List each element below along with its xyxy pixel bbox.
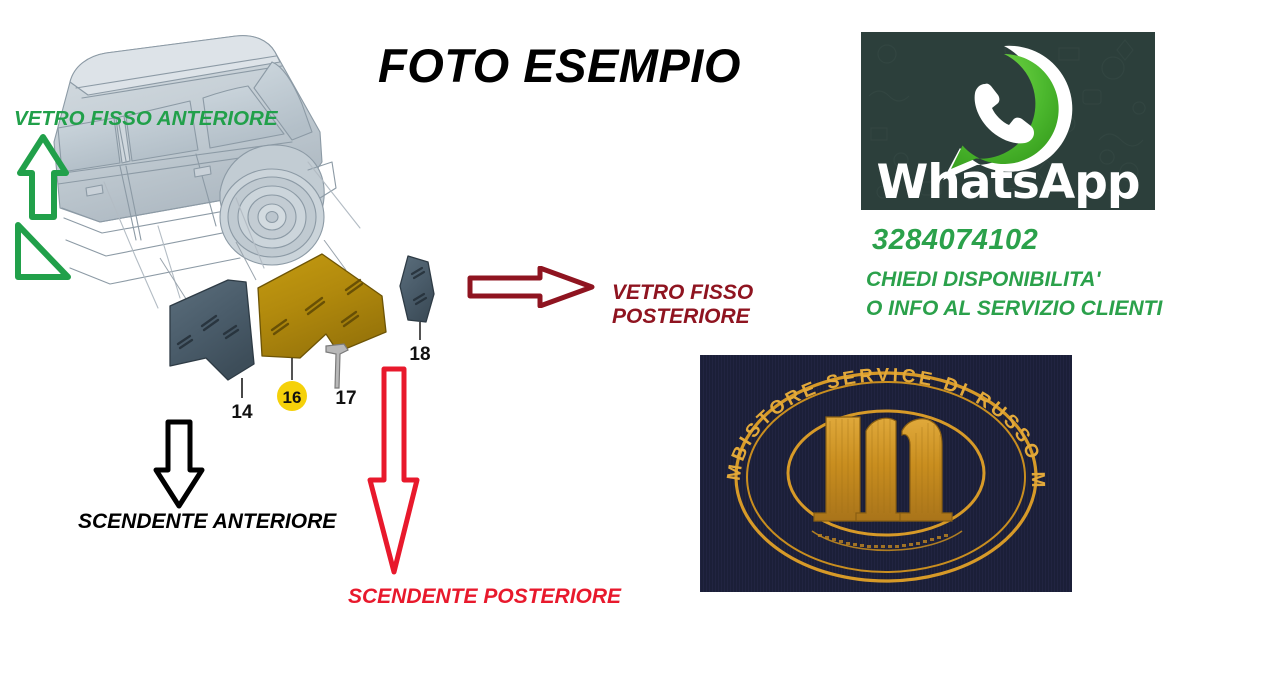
whatsapp-wordmark: WhatsApp — [861, 155, 1155, 210]
label-scendente-posteriore: SCENDENTE POSTERIORE — [348, 585, 621, 609]
poster-canvas: 14 16 17 — [0, 0, 1264, 678]
contact-customer-service-line: O INFO AL SERVIZIO CLIENTI — [866, 297, 1162, 321]
label-scendente-anteriore: SCENDENTE ANTERIORE — [78, 510, 336, 534]
whatsapp-banner: WhatsApp — [861, 32, 1155, 210]
label-vetro-fisso-posteriore-line2: POSTERIORE — [612, 305, 753, 329]
shop-logo-photo: MRICAMBISTORE SERVICE DI RUSSO MARCO — [700, 355, 1072, 592]
down-arrow-black-icon — [150, 418, 208, 510]
part-18-shape — [400, 256, 434, 322]
shop-logo-monogram — [814, 417, 952, 521]
part-16-shape — [258, 254, 386, 358]
label-vetro-fisso-anteriore: VETRO FISSO ANTERIORE — [14, 108, 278, 131]
exploded-glass-parts: 14 16 17 — [150, 240, 480, 440]
right-arrow-dark-red-icon — [466, 266, 596, 308]
down-arrow-red-icon — [364, 366, 422, 578]
page-title: FOTO ESEMPIO — [378, 38, 741, 93]
part-number-14: 14 — [231, 402, 253, 423]
svg-text:16: 16 — [283, 388, 302, 407]
phone-number[interactable]: 3284074102 — [872, 224, 1038, 257]
up-arrow-green-icon — [10, 133, 76, 283]
contact-availability-line: CHIEDI DISPONIBILITA' — [866, 268, 1100, 292]
part-number-17: 17 — [335, 388, 356, 409]
part-14-shape — [170, 280, 254, 380]
part-number-16-badge: 16 — [277, 381, 307, 411]
label-vetro-fisso-posteriore: VETRO FISSO POSTERIORE — [612, 281, 753, 328]
part-number-18: 18 — [409, 344, 430, 365]
part-17-shape — [326, 344, 348, 388]
label-vetro-fisso-posteriore-line1: VETRO FISSO — [612, 281, 753, 305]
